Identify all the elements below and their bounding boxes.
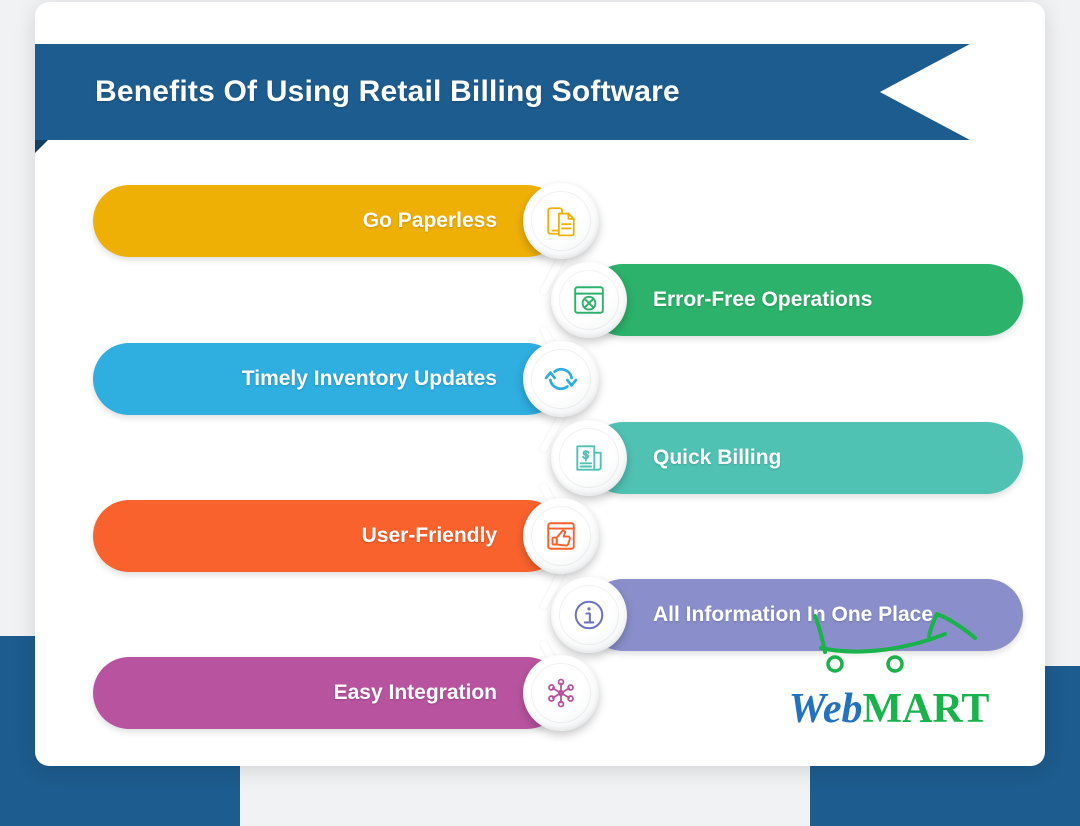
info-circle-icon[interactable] [551,577,627,653]
benefit-bar[interactable]: User-Friendly [93,500,563,572]
invoice-dollar-icon[interactable] [551,420,627,496]
benefit-row-quick-billing[interactable]: Quick Billing [529,422,1023,494]
benefit-row-user-friendly[interactable]: User-Friendly [93,500,621,572]
benefit-bar[interactable]: Error-Free Operations [587,264,1023,336]
benefit-bar[interactable]: Quick Billing [587,422,1023,494]
benefit-label: Easy Integration [334,681,497,705]
logo-text-mart: MART [863,686,990,732]
error-free-window-icon[interactable] [551,262,627,338]
logo-wordmark: WebMART [773,688,1005,730]
benefit-row-error-free-operations[interactable]: Error-Free Operations [529,264,1023,336]
benefit-label: Go Paperless [363,209,497,233]
benefit-label: Timely Inventory Updates [242,367,497,391]
benefit-row-easy-integration[interactable]: Easy Integration [93,657,621,729]
benefit-row-timely-inventory-updates[interactable]: Timely Inventory Updates [93,343,621,415]
paperless-mobile-document-icon[interactable] [523,183,599,259]
refresh-sync-icon[interactable] [523,341,599,417]
infographic-card: Benefits Of Using Retail Billing Softwar… [35,2,1045,766]
benefit-label: Error-Free Operations [653,288,872,312]
benefit-label: Quick Billing [653,446,781,470]
logo-text-web: Web [789,686,863,732]
benefit-bar[interactable]: Timely Inventory Updates [93,343,563,415]
benefit-bar[interactable]: Easy Integration [93,657,563,729]
network-hub-icon[interactable] [523,655,599,731]
benefit-row-go-paperless[interactable]: Go Paperless [93,185,621,257]
benefit-label: User-Friendly [362,524,497,548]
shopping-cart-icon [809,608,999,680]
benefit-bar[interactable]: Go Paperless [93,185,563,257]
thumbs-up-icon[interactable] [523,498,599,574]
brand-logo: WebMART [773,608,1005,730]
